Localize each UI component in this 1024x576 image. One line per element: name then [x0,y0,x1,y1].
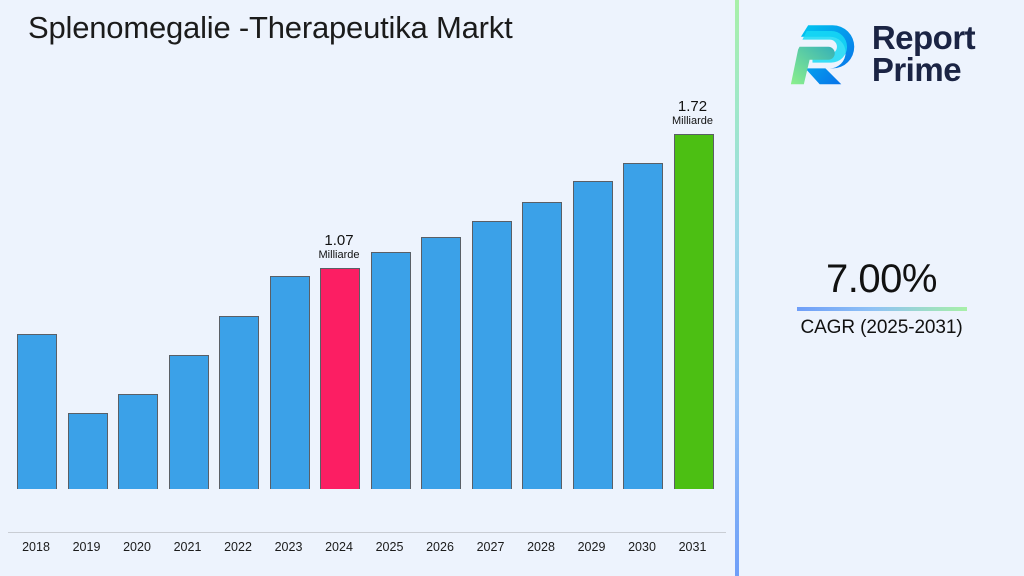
x-axis-line [8,532,726,533]
x-tick-2023: 2023 [265,540,313,554]
bar-2024[interactable] [320,268,360,489]
cagr-caption: CAGR (2025-2031) [739,317,1024,339]
x-tick-2030: 2030 [618,540,666,554]
bar-group [63,0,111,489]
brand-line-2: Prime [872,54,975,86]
bar-group [366,0,414,489]
brand-line-1: Report [872,22,975,54]
bar-value-label-2024: 1.07Milliarde [319,232,360,262]
report-prime-r-mark-icon [788,18,860,90]
bar-2018[interactable] [17,334,57,489]
bar-value-2031: 1.72 [672,98,713,115]
cagr-block: 7.00% CAGR (2025-2031) [739,258,1024,339]
bar-chart-plot-area: 2018201920202021202220231.07Milliarde202… [0,0,735,533]
x-tick-2018: 2018 [12,540,60,554]
x-tick-2021: 2021 [164,540,212,554]
bar-2030[interactable] [623,163,663,489]
x-tick-2019: 2019 [63,540,111,554]
bar-group: 1.72Milliarde [669,0,717,489]
brand-logo: Report Prime [739,8,1024,100]
bar-unit-2024: Milliarde [319,249,360,262]
bar-group [467,0,515,489]
x-tick-2022: 2022 [214,540,262,554]
bar-2031[interactable] [674,134,714,489]
bar-2022[interactable] [219,316,259,489]
bar-group [164,0,212,489]
x-tick-2024: 2024 [315,540,363,554]
summary-panel: Report Prime 7.00% CAGR (2025-2031) [739,0,1024,576]
bar-group [568,0,616,489]
cagr-value: 7.00% [739,258,1024,300]
bar-2025[interactable] [371,252,411,489]
bar-group [517,0,565,489]
chart-panel: Splenomegalie -Therapeutika Markt 201820… [0,0,735,576]
bar-2019[interactable] [68,413,108,489]
bar-value-2024: 1.07 [319,232,360,249]
bar-group [113,0,161,489]
cagr-divider-rule [797,307,967,311]
bar-unit-2031: Milliarde [672,115,713,128]
bar-2029[interactable] [573,181,613,489]
bar-value-label-2031: 1.72Milliarde [672,98,713,128]
bar-group [416,0,464,489]
bar-2028[interactable] [522,202,562,489]
infographic-root: Splenomegalie -Therapeutika Markt 201820… [0,0,1024,576]
x-tick-2025: 2025 [366,540,414,554]
bar-2020[interactable] [118,394,158,489]
x-tick-2020: 2020 [113,540,161,554]
bar-2023[interactable] [270,276,310,489]
brand-wordmark: Report Prime [872,22,975,87]
bar-group [214,0,262,489]
bar-2021[interactable] [169,355,209,489]
x-tick-2027: 2027 [467,540,515,554]
bar-2027[interactable] [472,221,512,489]
bar-group [265,0,313,489]
x-tick-2026: 2026 [416,540,464,554]
x-tick-2028: 2028 [517,540,565,554]
bar-group: 1.07Milliarde [315,0,363,489]
bar-2026[interactable] [421,237,461,489]
x-tick-2031: 2031 [669,540,717,554]
bar-group [618,0,666,489]
x-tick-2029: 2029 [568,540,616,554]
bar-group [12,0,60,489]
